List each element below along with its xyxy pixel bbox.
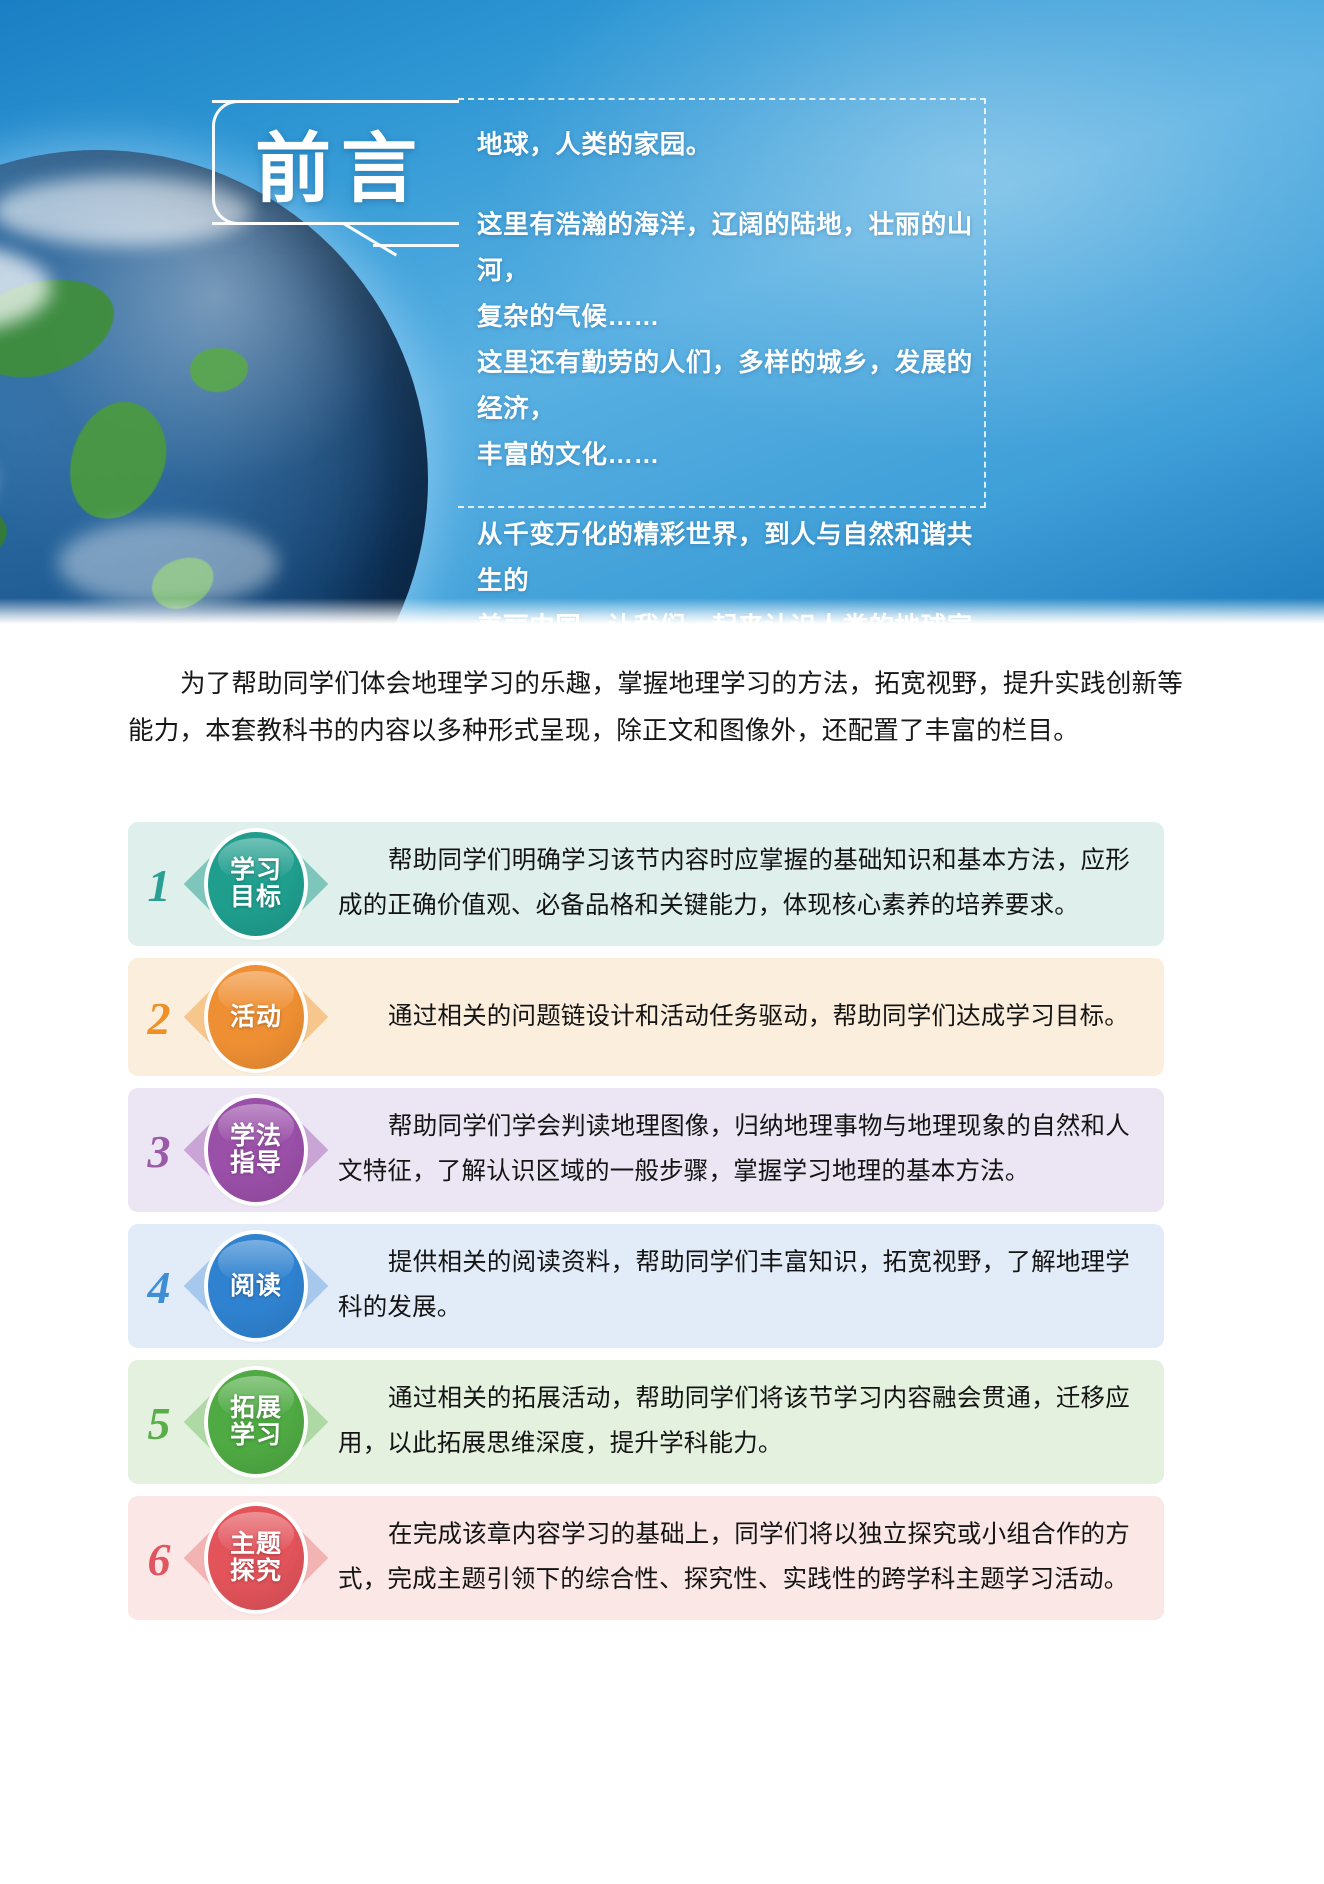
feature-badge[interactable]: 主题 探究 (190, 1499, 322, 1617)
feature-row-2[interactable]: 2 活动 通过相关的问题链设计和活动任务驱动，帮助同学们达成学习目标。 (128, 958, 1164, 1076)
landmass-shape (0, 265, 125, 391)
badge-circle: 活动 (208, 965, 304, 1069)
title-bubble-bottom-edge (212, 222, 347, 225)
cloud-shape (0, 242, 51, 334)
landmass-shape (0, 485, 11, 571)
hero-line-2: 这里有浩瀚的海洋，辽阔的陆地，壮丽的山河， (477, 202, 977, 294)
feature-description: 帮助同学们学会判读地理图像，归纳地理事物与地理现象的自然和人文特征，了解认识区域… (322, 1088, 1164, 1212)
feature-row-6[interactable]: 6 主题 探究 在完成该章内容学习的基础上，同学们将以独立探究或小组合作的方式，… (128, 1496, 1164, 1620)
feature-number: 5 (128, 1397, 190, 1447)
badge-circle: 阅读 (208, 1234, 304, 1338)
cloud-shape (58, 520, 278, 606)
hero-banner: 前言 地球，人类的家园。 这里有浩瀚的海洋，辽阔的陆地，壮丽的山河， 复杂的气候… (0, 0, 1324, 624)
hero-line-6: 从千变万化的精彩世界，到人与自然和谐共生的 (477, 512, 977, 604)
hero-line-5: 丰富的文化…… (477, 432, 977, 478)
hero-line-1: 地球，人类的家园。 (477, 122, 977, 168)
feature-row-1[interactable]: 1 学习 目标 帮助同学们明确学习该节内容时应掌握的基础知识和基本方法，应形成的… (128, 822, 1164, 946)
feature-badge[interactable]: 拓展 学习 (190, 1363, 322, 1481)
badge-label-line1: 活动 (230, 1004, 282, 1031)
feature-number: 4 (128, 1261, 190, 1311)
hero-line-3: 复杂的气候…… (477, 294, 977, 340)
feature-row-5[interactable]: 5 拓展 学习 通过相关的拓展活动，帮助同学们将该节学习内容融会贯通，迁移应用，… (128, 1360, 1164, 1484)
feature-badge[interactable]: 学法 指导 (190, 1091, 322, 1209)
hero-spacer (477, 168, 977, 202)
feature-list: 1 学习 目标 帮助同学们明确学习该节内容时应掌握的基础知识和基本方法，应形成的… (128, 822, 1164, 1632)
badge-circle: 学法 指导 (208, 1098, 304, 1202)
intro-paragraph: 为了帮助同学们体会地理学习的乐趣，掌握地理学习的方法，拓宽视野，提升实践创新等能… (128, 660, 1183, 754)
feature-description: 通过相关的拓展活动，帮助同学们将该节学习内容融会贯通，迁移应用，以此拓展思维深度… (322, 1360, 1164, 1484)
title-bubble-tail-edge (373, 244, 459, 247)
feature-number: 2 (128, 992, 190, 1042)
badge-label-line2: 指导 (230, 1150, 282, 1177)
badge-label-line1: 阅读 (230, 1273, 282, 1300)
feature-row-3[interactable]: 3 学法 指导 帮助同学们学会判读地理图像，归纳地理事物与地理现象的自然和人文特… (128, 1088, 1164, 1212)
badge-label-line2: 探究 (230, 1558, 282, 1585)
feature-row-4[interactable]: 4 阅读 提供相关的阅读资料，帮助同学们丰富知识，拓宽视野，了解地理学科的发展。 (128, 1224, 1164, 1348)
hero-text-block: 地球，人类的家园。 这里有浩瀚的海洋，辽阔的陆地，壮丽的山河， 复杂的气候…… … (477, 122, 977, 624)
badge-circle: 主题 探究 (208, 1506, 304, 1610)
badge-label-line1: 学习 (230, 857, 282, 884)
badge-label-line2: 目标 (230, 884, 282, 911)
feature-description: 在完成该章内容学习的基础上，同学们将以独立探究或小组合作的方式，完成主题引领下的… (322, 1496, 1164, 1620)
feature-description: 通过相关的问题链设计和活动任务驱动，帮助同学们达成学习目标。 (322, 978, 1164, 1057)
feature-badge[interactable]: 阅读 (190, 1227, 322, 1345)
feature-number: 1 (128, 859, 190, 909)
badge-label-line1: 主题 (230, 1531, 282, 1558)
feature-badge[interactable]: 学习 目标 (190, 825, 322, 943)
badge-circle: 拓展 学习 (208, 1370, 304, 1474)
feature-number: 3 (128, 1125, 190, 1175)
landmass-shape (190, 348, 248, 392)
feature-badge[interactable]: 活动 (190, 958, 322, 1076)
feature-number: 6 (128, 1533, 190, 1583)
title-bubble-top-edge (212, 100, 459, 103)
badge-label-line1: 学法 (230, 1123, 282, 1150)
hero-spacer (477, 478, 977, 512)
feature-description: 帮助同学们明确学习该节内容时应掌握的基础知识和基本方法，应形成的正确价值观、必备… (322, 822, 1164, 946)
badge-label-line1: 拓展 (230, 1395, 282, 1422)
hero-bottom-fade (0, 598, 1324, 624)
feature-description: 提供相关的阅读资料，帮助同学们丰富知识，拓宽视野，了解地理学科的发展。 (322, 1224, 1164, 1348)
badge-label-line2: 学习 (230, 1422, 282, 1449)
badge-circle: 学习 目标 (208, 832, 304, 936)
page-title: 前言 (232, 106, 440, 218)
hero-line-4: 这里还有勤劳的人们，多样的城乡，发展的经济， (477, 340, 977, 432)
landmass-shape (55, 390, 180, 533)
